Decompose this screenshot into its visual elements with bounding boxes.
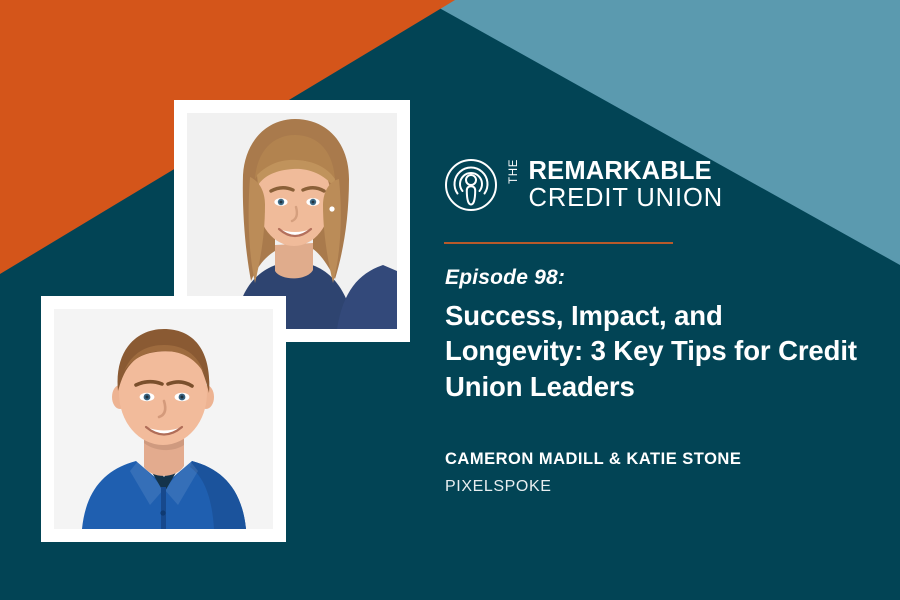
- orange-divider-rule: [444, 242, 673, 244]
- cameron-madill-photo: [54, 309, 273, 529]
- brand-credit-union-label: CREDIT UNION: [529, 184, 724, 212]
- cameron-madill-portrait-art: [54, 309, 273, 529]
- brand-wordmark: THE REMARKABLE CREDIT UNION: [509, 158, 864, 212]
- company-label: PIXELSPOKE: [445, 478, 552, 496]
- episode-title: Success, Impact, and Longevity: 3 Key Ti…: [445, 298, 857, 404]
- cameron-madill-photo-frame: [41, 296, 286, 542]
- podcast-episode-graphic: THE REMARKABLE CREDIT UNION Episode 98: …: [0, 0, 900, 600]
- speakers-label: CAMERON MADILL & KATIE STONE: [445, 450, 741, 469]
- content-column: THE REMARKABLE CREDIT UNION Episode 98: …: [444, 0, 864, 600]
- brand-name-lines: REMARKABLE CREDIT UNION: [529, 158, 865, 212]
- brand-logo: THE REMARKABLE CREDIT UNION: [444, 158, 864, 212]
- episode-number-label: Episode 98:: [445, 266, 565, 290]
- podcast-microphone-icon: [444, 158, 498, 212]
- brand-the-label: THE: [509, 159, 521, 184]
- brand-remarkable-label: REMARKABLE: [529, 157, 712, 185]
